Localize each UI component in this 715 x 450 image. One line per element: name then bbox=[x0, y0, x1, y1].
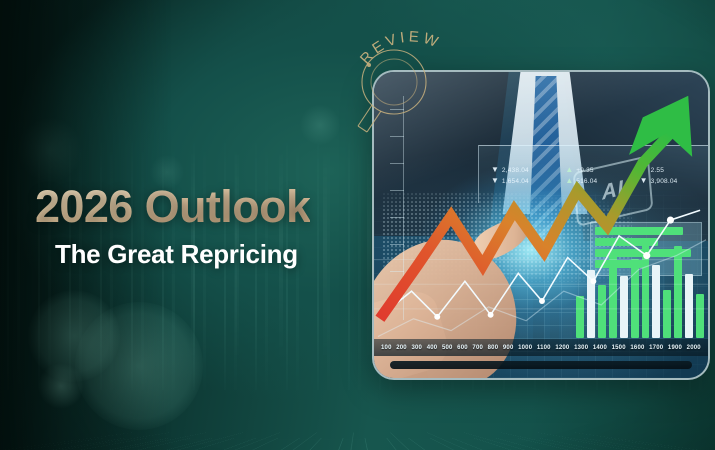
axis-tick: 800 bbox=[488, 345, 499, 351]
axis-tick: 900 bbox=[503, 345, 514, 351]
headline-block: 2026 Outlook The Great Repricing bbox=[35, 184, 365, 270]
composite-photo: ▼ 2,438.04 ▲ +9.35 ▼ 2.55 ▼ 1,654.04 ▲ bbox=[374, 72, 708, 378]
axis-tick: 500 bbox=[442, 345, 453, 351]
axis-tick: 1700 bbox=[649, 345, 663, 351]
axis-tick: 1600 bbox=[630, 345, 644, 351]
trend-arrow-line bbox=[380, 133, 671, 319]
axis-tick: 600 bbox=[457, 345, 468, 351]
axis-rail bbox=[390, 361, 692, 369]
axis-tick: 1200 bbox=[555, 345, 569, 351]
title-year: 2026 bbox=[35, 181, 133, 232]
axis-tick: 1400 bbox=[593, 345, 607, 351]
axis-tick: 2000 bbox=[687, 345, 701, 351]
title-word: Outlook bbox=[133, 181, 311, 232]
axis-tick: 1900 bbox=[668, 345, 682, 351]
axis-tick: 1500 bbox=[612, 345, 626, 351]
axis-tick: 1000 bbox=[518, 345, 532, 351]
axis-tick: 1300 bbox=[574, 345, 588, 351]
axis-tick-bar: 100 200 300 400 500 600 700 800 900 1000… bbox=[374, 339, 708, 356]
chart-vector-layer bbox=[374, 72, 708, 378]
axis-tick: 200 bbox=[396, 345, 407, 351]
axis-tick: 300 bbox=[411, 345, 422, 351]
axis-tick: 100 bbox=[381, 345, 392, 351]
banner-root: 2026 Outlook The Great Repricing ▼ 2,438… bbox=[0, 0, 715, 450]
page-title: 2026 Outlook bbox=[35, 184, 365, 230]
axis-tick: 1100 bbox=[537, 345, 551, 351]
axis-tick: 400 bbox=[427, 345, 438, 351]
page-subtitle: The Great Repricing bbox=[55, 239, 365, 270]
axis-tick: 700 bbox=[472, 345, 483, 351]
feature-image-card: ▼ 2,438.04 ▲ +9.35 ▼ 2.55 ▼ 1,654.04 ▲ bbox=[372, 70, 710, 380]
